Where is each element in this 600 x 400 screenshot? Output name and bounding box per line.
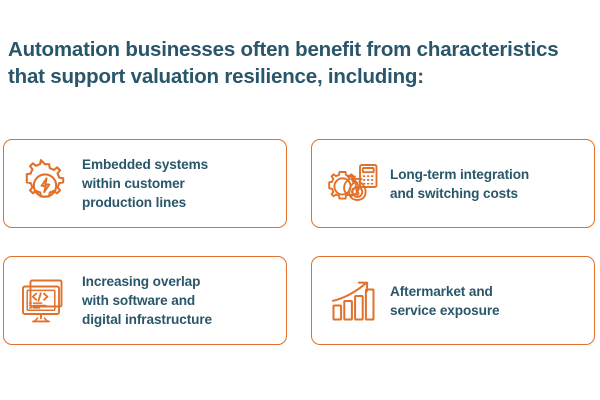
card-aftermarket-service[interactable]: Aftermarket and service exposure: [311, 256, 595, 345]
card-text-line-1: Long-term integration: [390, 165, 529, 184]
infographic-page: Automation businesses often benefit from…: [0, 0, 600, 400]
card-text-line-1: Aftermarket and: [390, 282, 500, 301]
card-long-term-integration[interactable]: Long-term integration and switching cost…: [311, 139, 595, 228]
card-text-line-1: Embedded systems: [82, 155, 208, 174]
card-aftermarket-service-label: Aftermarket and service exposure: [384, 282, 500, 320]
card-increasing-overlap[interactable]: Increasing overlap with software and dig…: [3, 256, 287, 345]
growth-bar-chart-arrow-icon: [322, 270, 384, 332]
page-title-line-1: Automation businesses often benefit from…: [8, 36, 588, 63]
monitor-code-icon: [14, 270, 76, 332]
card-text-line-2: service exposure: [390, 301, 500, 320]
card-increasing-overlap-label: Increasing overlap with software and dig…: [76, 272, 212, 329]
card-text-line-2: within customer: [82, 174, 208, 193]
card-embedded-systems-label: Embedded systems within customer product…: [76, 155, 208, 212]
characteristics-card-grid: Embedded systems within customer product…: [3, 139, 595, 345]
card-text-line-3: digital infrastructure: [82, 310, 212, 329]
card-embedded-systems[interactable]: Embedded systems within customer product…: [3, 139, 287, 228]
card-long-term-integration-label: Long-term integration and switching cost…: [384, 165, 529, 203]
card-text-line-3: production lines: [82, 193, 208, 212]
money-bags-calculator-gear-icon: [322, 153, 384, 215]
card-text-line-2: with software and: [82, 291, 212, 310]
card-text-line-1: Increasing overlap: [82, 272, 212, 291]
page-title: Automation businesses often benefit from…: [8, 36, 588, 90]
page-title-line-2: that support valuation resilience, inclu…: [8, 63, 588, 90]
gear-lightning-icon: [14, 153, 76, 215]
card-text-line-2: and switching costs: [390, 184, 529, 203]
